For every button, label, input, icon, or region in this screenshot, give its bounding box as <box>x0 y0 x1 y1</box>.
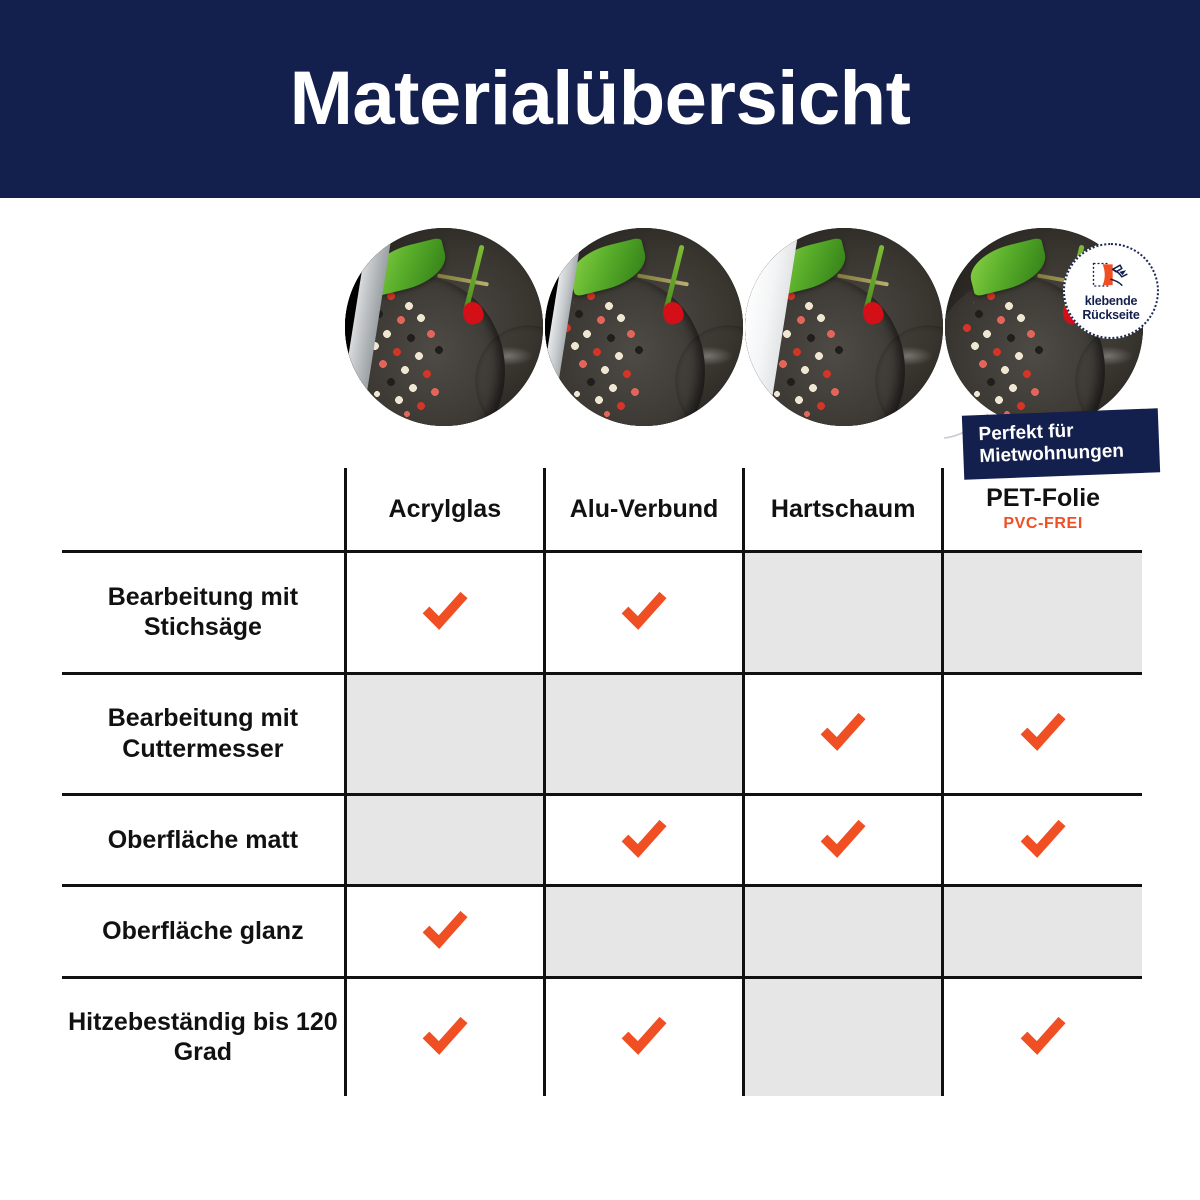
ribbon-line-2: Mietwohnungen <box>979 440 1124 467</box>
cell-not-supported <box>544 886 743 977</box>
check-icon <box>422 1015 468 1055</box>
row-label: Hitzebeständig bis 120 Grad <box>62 977 345 1096</box>
cell-not-supported <box>744 977 943 1096</box>
table-row: Bearbeitung mit Cuttermesser <box>62 673 1142 795</box>
check-icon <box>1020 818 1066 858</box>
table-row: Oberfläche matt <box>62 795 1142 886</box>
column-header-label: Acrylglas <box>347 496 543 522</box>
column-header-sublabel: PVC-FREI <box>944 515 1142 533</box>
material-overview-page: Materialübersicht <box>0 0 1200 1200</box>
check-icon <box>820 818 866 858</box>
cell-supported <box>544 795 743 886</box>
check-icon <box>422 909 468 949</box>
cell-supported <box>744 673 943 795</box>
sticky-badge-line-2: Rückseite <box>1082 308 1139 322</box>
column-header-alu-verbund: Alu-Verbund <box>544 468 743 552</box>
table-corner-cell <box>62 468 345 552</box>
check-icon <box>621 590 667 630</box>
check-icon <box>820 711 866 751</box>
cell-supported <box>544 977 743 1096</box>
column-header-label: PET-Folie <box>944 485 1142 511</box>
table-row: Oberfläche glanz <box>62 886 1142 977</box>
material-comparison-table: Acrylglas Alu-Verbund Hartschaum PET-Fol… <box>62 468 1142 1096</box>
row-label: Oberfläche matt <box>62 795 345 886</box>
table-header-row: Acrylglas Alu-Verbund Hartschaum PET-Fol… <box>62 468 1142 552</box>
sticky-back-badge-text: klebende Rückseite <box>1082 294 1139 322</box>
row-label: Bearbeitung mit Cuttermesser <box>62 673 345 795</box>
column-header-acrylglas: Acrylglas <box>345 468 544 552</box>
table-row: Bearbeitung mit Stichsäge <box>62 552 1142 674</box>
row-label: Oberfläche glanz <box>62 886 345 977</box>
page-title: Materialübersicht <box>0 0 1200 198</box>
peel-sticker-icon <box>1091 261 1131 291</box>
check-icon <box>621 818 667 858</box>
cell-supported <box>744 795 943 886</box>
column-header-label: Hartschaum <box>745 496 941 522</box>
cell-not-supported <box>345 795 544 886</box>
cell-supported <box>943 795 1142 886</box>
cell-supported <box>943 673 1142 795</box>
material-thumbnail-row <box>345 228 1142 428</box>
cell-not-supported <box>744 552 943 674</box>
column-header-hartschaum: Hartschaum <box>744 468 943 552</box>
cell-not-supported <box>744 886 943 977</box>
thumbnail-alu-verbund <box>545 228 743 426</box>
check-icon <box>1020 1015 1066 1055</box>
ribbon-line-1: Perfekt für <box>978 421 1074 446</box>
sticky-back-badge: klebende Rückseite <box>1063 243 1159 339</box>
thumbnail-hartschaum <box>745 228 943 426</box>
column-header-pet-folie: PET-Folie PVC-FREI <box>943 468 1142 552</box>
thumbnail-acrylglas <box>345 228 543 426</box>
sticky-badge-line-1: klebende <box>1085 294 1138 308</box>
check-icon <box>422 590 468 630</box>
cell-not-supported <box>345 673 544 795</box>
cell-supported <box>345 886 544 977</box>
cell-supported <box>345 552 544 674</box>
table-row: Hitzebeständig bis 120 Grad <box>62 977 1142 1096</box>
cell-not-supported <box>943 552 1142 674</box>
check-icon <box>1020 711 1066 751</box>
cell-supported <box>544 552 743 674</box>
column-header-label: Alu-Verbund <box>546 496 742 522</box>
rental-friendly-ribbon: Perfekt für Mietwohnungen <box>962 408 1160 479</box>
cell-supported <box>943 977 1142 1096</box>
table-body: Bearbeitung mit StichsägeBearbeitung mit… <box>62 552 1142 1097</box>
cell-not-supported <box>943 886 1142 977</box>
row-label: Bearbeitung mit Stichsäge <box>62 552 345 674</box>
cell-not-supported <box>544 673 743 795</box>
check-icon <box>621 1015 667 1055</box>
cell-supported <box>345 977 544 1096</box>
